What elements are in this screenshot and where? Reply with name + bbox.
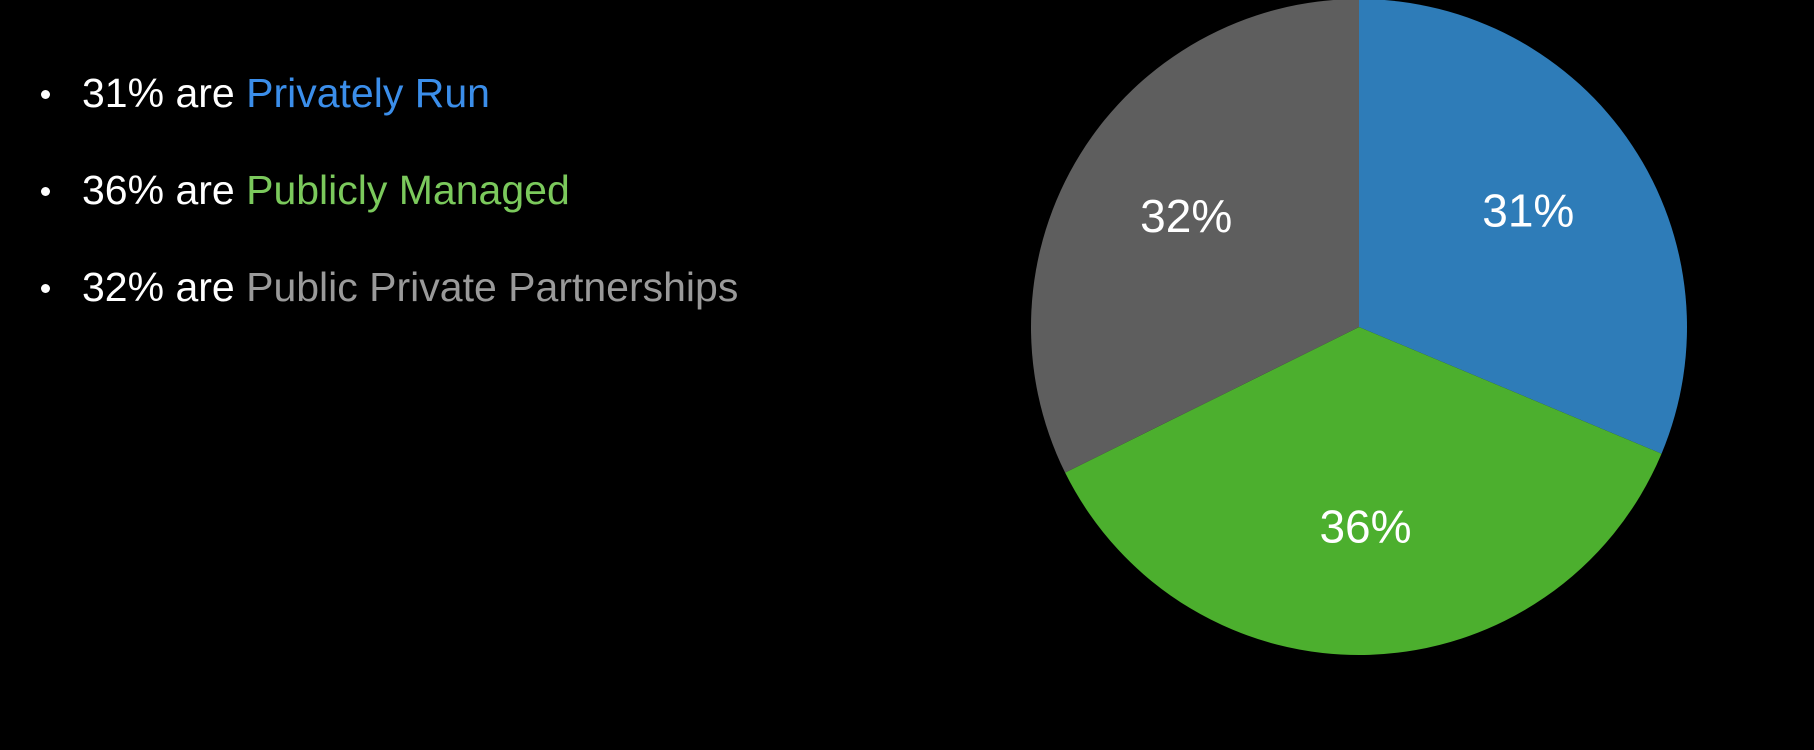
bullet-term-publicly-managed: Publicly Managed xyxy=(246,167,570,213)
bullet-lead-text: 32% are xyxy=(82,264,246,310)
bullet-lead-text: 36% are xyxy=(82,167,246,213)
bullet-dot-icon xyxy=(41,284,50,293)
bullet-lead-text: 31% are xyxy=(82,70,246,116)
bullet-list: 31% are Privately Run 36% are Publicly M… xyxy=(34,66,874,357)
pie-chart: 31%36%32% xyxy=(1031,0,1687,655)
slide-canvas: 31% are Privately Run 36% are Publicly M… xyxy=(0,0,1814,750)
bullet-term-privately-run: Privately Run xyxy=(246,70,490,116)
list-item: 32% are Public Private Partnerships xyxy=(34,260,874,314)
pie-slice-label-3: 32% xyxy=(1140,190,1232,242)
list-item: 31% are Privately Run xyxy=(34,66,874,120)
bullet-dot-icon xyxy=(41,90,50,99)
pie-chart-svg: 31%36%32% xyxy=(1031,0,1687,655)
bullet-dot-icon xyxy=(41,187,50,196)
pie-slice-label-2: 36% xyxy=(1319,500,1411,552)
list-item: 36% are Publicly Managed xyxy=(34,163,874,217)
bullet-term-public-private-partnerships: Public Private Partnerships xyxy=(246,264,738,310)
pie-slice-label-1: 31% xyxy=(1482,185,1574,237)
